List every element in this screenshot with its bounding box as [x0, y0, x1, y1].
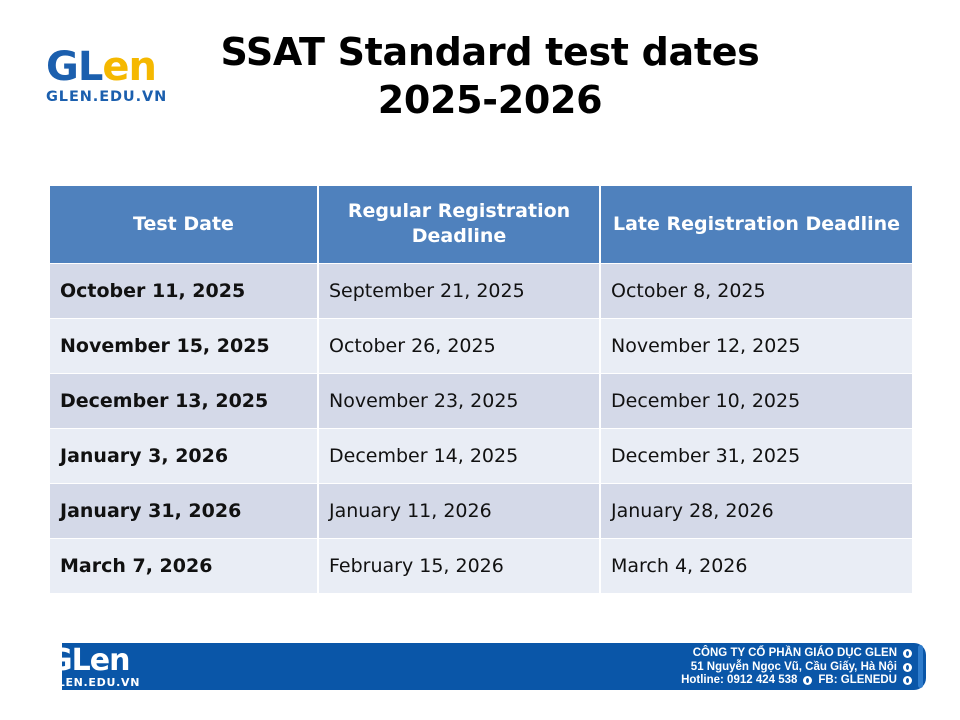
bullet-dot-icon: [903, 663, 912, 672]
column-header-late-registration-deadline: Late Registration Deadline: [600, 186, 912, 264]
table-row: November 15, 2025 October 26, 2025 Novem…: [50, 319, 912, 374]
bullet-dot-icon: [903, 676, 912, 685]
cell-regular-deadline: November 23, 2025: [318, 374, 600, 429]
footer-logo: GLen GLEN.EDU.VN: [48, 645, 178, 691]
cell-late-deadline: October 8, 2025: [600, 264, 912, 319]
cell-test-date: October 11, 2025: [50, 264, 318, 319]
footer-company-name: CÔNG TY CỔ PHẦN GIÁO DỤC GLEN: [693, 647, 897, 661]
table-row: January 3, 2026 December 14, 2025 Decemb…: [50, 429, 912, 484]
cell-test-date: January 31, 2026: [50, 484, 318, 539]
footer-hotline-segment: Hotline: 0912 424 538: [681, 674, 812, 688]
logo-wordmark: GLen: [46, 46, 186, 88]
footer-bar-accent: [918, 645, 923, 688]
table-row: March 7, 2026 February 15, 2026 March 4,…: [50, 539, 912, 594]
cell-regular-deadline: October 26, 2025: [318, 319, 600, 374]
footer-address: 51 Nguyễn Ngọc Vũ, Cầu Giấy, Hà Nội: [691, 661, 897, 675]
cell-regular-deadline: September 21, 2025: [318, 264, 600, 319]
bullet-dot-icon: [803, 676, 812, 685]
cell-regular-deadline: December 14, 2025: [318, 429, 600, 484]
bullet-dot-icon: [903, 649, 912, 658]
footer-logo-wordmark-part1: GL: [48, 643, 90, 678]
table-row: December 13, 2025 November 23, 2025 Dece…: [50, 374, 912, 429]
cell-test-date: January 3, 2026: [50, 429, 318, 484]
footer-hotline: Hotline: 0912 424 538: [681, 674, 797, 688]
logo-tagline: GLEN.EDU.VN: [46, 89, 186, 105]
footer-facebook-segment[interactable]: FB: GLENEDU: [818, 674, 912, 688]
footer: GLen GLEN.EDU.VN CÔNG TY CỔ PHẦN GIÁO DỤ…: [0, 643, 960, 695]
footer-logo-wordmark-part2: en: [90, 643, 130, 678]
footer-company-line: CÔNG TY CỔ PHẦN GIÁO DỤC GLEN: [681, 647, 912, 661]
column-header-regular-registration-deadline: Regular Registration Deadline: [318, 186, 600, 264]
cell-test-date: December 13, 2025: [50, 374, 318, 429]
cell-regular-deadline: February 15, 2026: [318, 539, 600, 594]
footer-facebook[interactable]: FB: GLENEDU: [818, 674, 897, 688]
test-dates-table-container: Test Date Regular Registration Deadline …: [50, 186, 912, 594]
cell-late-deadline: November 12, 2025: [600, 319, 912, 374]
table-row: January 31, 2026 January 11, 2026 Januar…: [50, 484, 912, 539]
cell-test-date: November 15, 2025: [50, 319, 318, 374]
footer-logo-wordmark: GLen: [48, 645, 178, 676]
logo-wordmark-part2: en: [102, 44, 156, 90]
table-header-row: Test Date Regular Registration Deadline …: [50, 186, 912, 264]
header-logo: GLen GLEN.EDU.VN: [46, 46, 186, 106]
table-row: October 11, 2025 September 21, 2025 Octo…: [50, 264, 912, 319]
cell-regular-deadline: January 11, 2026: [318, 484, 600, 539]
column-header-test-date: Test Date: [50, 186, 318, 264]
footer-address-line: 51 Nguyễn Ngọc Vũ, Cầu Giấy, Hà Nội: [681, 661, 912, 675]
table-header: Test Date Regular Registration Deadline …: [50, 186, 912, 264]
page-title-line-1: SSAT Standard test dates: [190, 28, 790, 76]
cell-late-deadline: December 31, 2025: [600, 429, 912, 484]
test-dates-table: Test Date Regular Registration Deadline …: [50, 186, 912, 594]
footer-logo-tagline: GLEN.EDU.VN: [48, 677, 178, 689]
cell-late-deadline: January 28, 2026: [600, 484, 912, 539]
cell-late-deadline: March 4, 2026: [600, 539, 912, 594]
logo-wordmark-part1: GL: [46, 44, 102, 90]
footer-contact-block: CÔNG TY CỔ PHẦN GIÁO DỤC GLEN 51 Nguyễn …: [681, 647, 912, 688]
page-title-line-2: 2025-2026: [190, 76, 790, 124]
cell-test-date: March 7, 2026: [50, 539, 318, 594]
table-body: October 11, 2025 September 21, 2025 Octo…: [50, 264, 912, 594]
page-title: SSAT Standard test dates 2025-2026: [190, 28, 790, 124]
cell-late-deadline: December 10, 2025: [600, 374, 912, 429]
footer-hotline-social-line: Hotline: 0912 424 538 FB: GLENEDU: [681, 674, 912, 688]
